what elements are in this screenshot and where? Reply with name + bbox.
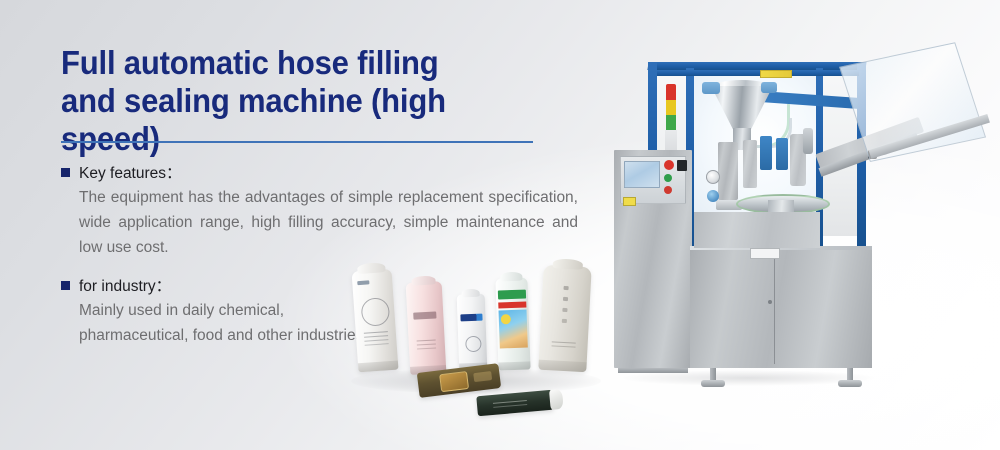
tube-cap <box>549 389 564 410</box>
key-features-text: The equipment has the advantages of simp… <box>79 185 578 260</box>
tower-light-green <box>666 115 676 130</box>
head-actuator <box>803 128 813 154</box>
tube-artwork <box>465 336 482 353</box>
square-bullet-icon <box>61 168 70 177</box>
tube-glyph-column <box>563 286 568 290</box>
sealing-head-blue-a <box>760 136 772 170</box>
start-button[interactable] <box>664 174 672 182</box>
cabinet-base <box>618 368 688 373</box>
pressure-gauge <box>706 170 720 184</box>
cosmetic-tube-samples-photo <box>345 252 610 422</box>
tube-cap <box>405 374 424 399</box>
warning-sticker <box>760 70 792 78</box>
sealing-head-a <box>743 140 757 188</box>
tube-item <box>538 265 591 372</box>
machine-mid-shelf <box>694 212 820 248</box>
tube-label-patch <box>473 371 492 382</box>
tube-brand-mark <box>460 314 482 322</box>
machine-nameplate <box>750 248 780 259</box>
tube-item <box>406 281 447 375</box>
for-industry-text: Mainly used in daily chemical, pharmaceu… <box>79 298 369 348</box>
tube-text-lines <box>552 341 576 343</box>
stop-button[interactable] <box>664 186 672 194</box>
regulator-knob[interactable] <box>707 190 719 202</box>
tube-shoulder <box>411 275 435 285</box>
machine-lower-body <box>690 246 872 368</box>
machine-frame-top-rail <box>647 62 866 70</box>
key-features-heading-row: Key features： <box>61 164 581 183</box>
emergency-stop-button[interactable] <box>664 160 674 170</box>
tube-promo-band <box>498 302 526 309</box>
hose-filling-sealing-machine-photo <box>598 22 998 412</box>
tower-light-red <box>666 84 676 100</box>
machine-foot-pad-left <box>701 380 725 387</box>
tube-shoulder <box>500 272 522 282</box>
machine-foot-pad-right <box>838 380 862 387</box>
tube-item <box>352 269 399 373</box>
product-banner: Full automatic hose filling and sealing … <box>0 0 1000 450</box>
power-switch[interactable] <box>677 160 687 171</box>
ce-label <box>623 197 636 206</box>
tube-artwork <box>439 371 469 392</box>
cabinet-door-lock[interactable] <box>768 300 772 304</box>
hmi-touchscreen <box>624 161 660 188</box>
hopper-clamp-left <box>702 82 720 94</box>
tube-text-lines <box>364 331 388 334</box>
tube-brand-mark <box>357 280 369 285</box>
key-features-label: Key features： <box>79 164 182 183</box>
hopper-clamp-right <box>761 82 777 93</box>
filling-nozzle-column <box>718 142 738 200</box>
tube-artwork <box>360 297 390 327</box>
tube-crimp <box>498 361 530 370</box>
tube-brand-mark <box>413 311 436 319</box>
tube-item <box>457 294 488 371</box>
title-divider <box>61 141 533 143</box>
cabinet-door-seam <box>774 250 775 364</box>
tower-light-yellow <box>666 100 676 115</box>
tube-text-lines <box>417 340 436 342</box>
tube-text-lines <box>493 400 527 404</box>
tube-item <box>495 277 530 370</box>
tube-shoulder <box>357 262 386 274</box>
tube-shoulder <box>462 289 480 298</box>
tube-shoulder <box>553 258 583 270</box>
for-industry-label: for industry： <box>79 277 171 296</box>
section-key-features: Key features： The equipment has the adva… <box>61 164 581 260</box>
square-bullet-icon <box>61 281 70 290</box>
sealing-head-blue-b <box>776 138 788 170</box>
tube-brand-band <box>498 290 526 300</box>
